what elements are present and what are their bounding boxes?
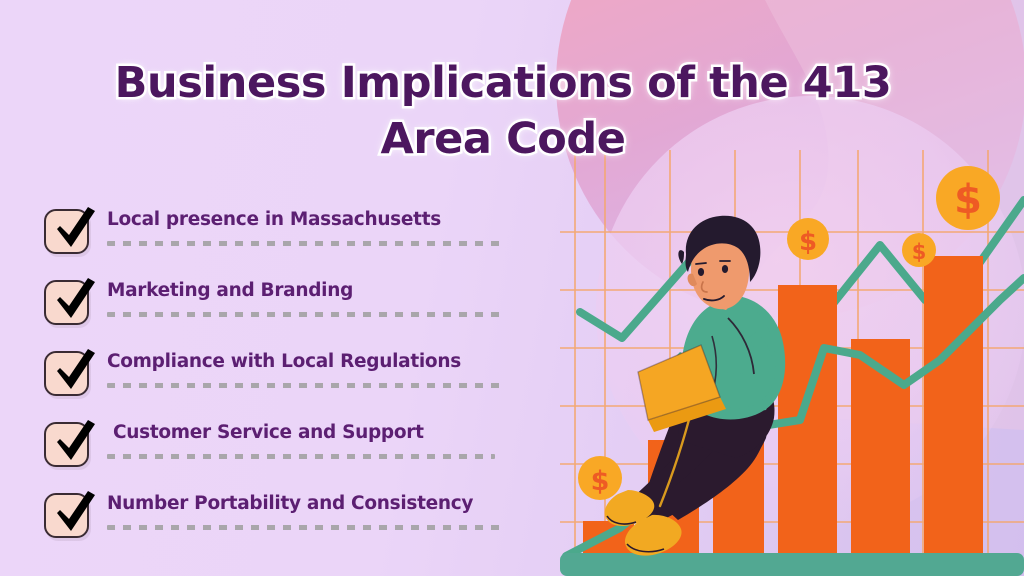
coin-small: $: [902, 233, 936, 267]
checklist-item-label: Local presence in Massachusetts: [107, 208, 564, 232]
checkbox[interactable]: [44, 493, 89, 538]
checklist-divider: [107, 454, 495, 459]
page-title-line-2: Area Code: [58, 111, 948, 167]
infographic-canvas: $ $ $ $: [0, 0, 1024, 576]
checklist-item[interactable]: Local presence in Massachusetts: [44, 208, 564, 259]
checklist-item[interactable]: Marketing and Branding: [44, 279, 564, 330]
checklist-item[interactable]: Customer Service and Support: [44, 421, 564, 472]
checklist-item-label: Number Portability and Consistency: [107, 492, 564, 516]
checklist-divider: [107, 525, 501, 530]
checkbox-wrap[interactable]: [44, 209, 91, 256]
checkbox-wrap[interactable]: [44, 493, 91, 540]
chart-baseline: [560, 553, 1024, 576]
svg-text:$: $: [954, 177, 982, 223]
page-title-line-1: Business Implications of the 413: [58, 55, 948, 111]
checklist-divider: [107, 312, 503, 317]
checkbox[interactable]: [44, 280, 89, 325]
checkbox[interactable]: [44, 351, 89, 396]
checklist: Local presence in Massachusetts Marketin…: [44, 208, 564, 563]
svg-text:$: $: [799, 227, 817, 257]
checklist-item-label: Marketing and Branding: [107, 279, 564, 303]
checklist-item-label: Customer Service and Support: [113, 421, 564, 445]
coin-medium-top: $: [787, 218, 829, 260]
coin-large: $: [936, 166, 1000, 230]
checkbox-wrap[interactable]: [44, 280, 91, 327]
checkbox[interactable]: [44, 209, 89, 254]
coin-medium-bottom: $: [578, 456, 622, 500]
checklist-item[interactable]: Compliance with Local Regulations: [44, 350, 564, 401]
checklist-divider: [107, 241, 501, 246]
checkbox[interactable]: [44, 422, 89, 467]
checklist-item[interactable]: Number Portability and Consistency: [44, 492, 564, 543]
checkbox-wrap[interactable]: [44, 422, 91, 469]
checklist-divider: [107, 383, 502, 388]
checkbox-wrap[interactable]: [44, 351, 91, 398]
svg-text:$: $: [591, 466, 610, 497]
page-title: Business Implications of the 413 Area Co…: [58, 55, 948, 167]
checklist-item-label: Compliance with Local Regulations: [107, 350, 564, 374]
svg-text:$: $: [912, 240, 927, 264]
